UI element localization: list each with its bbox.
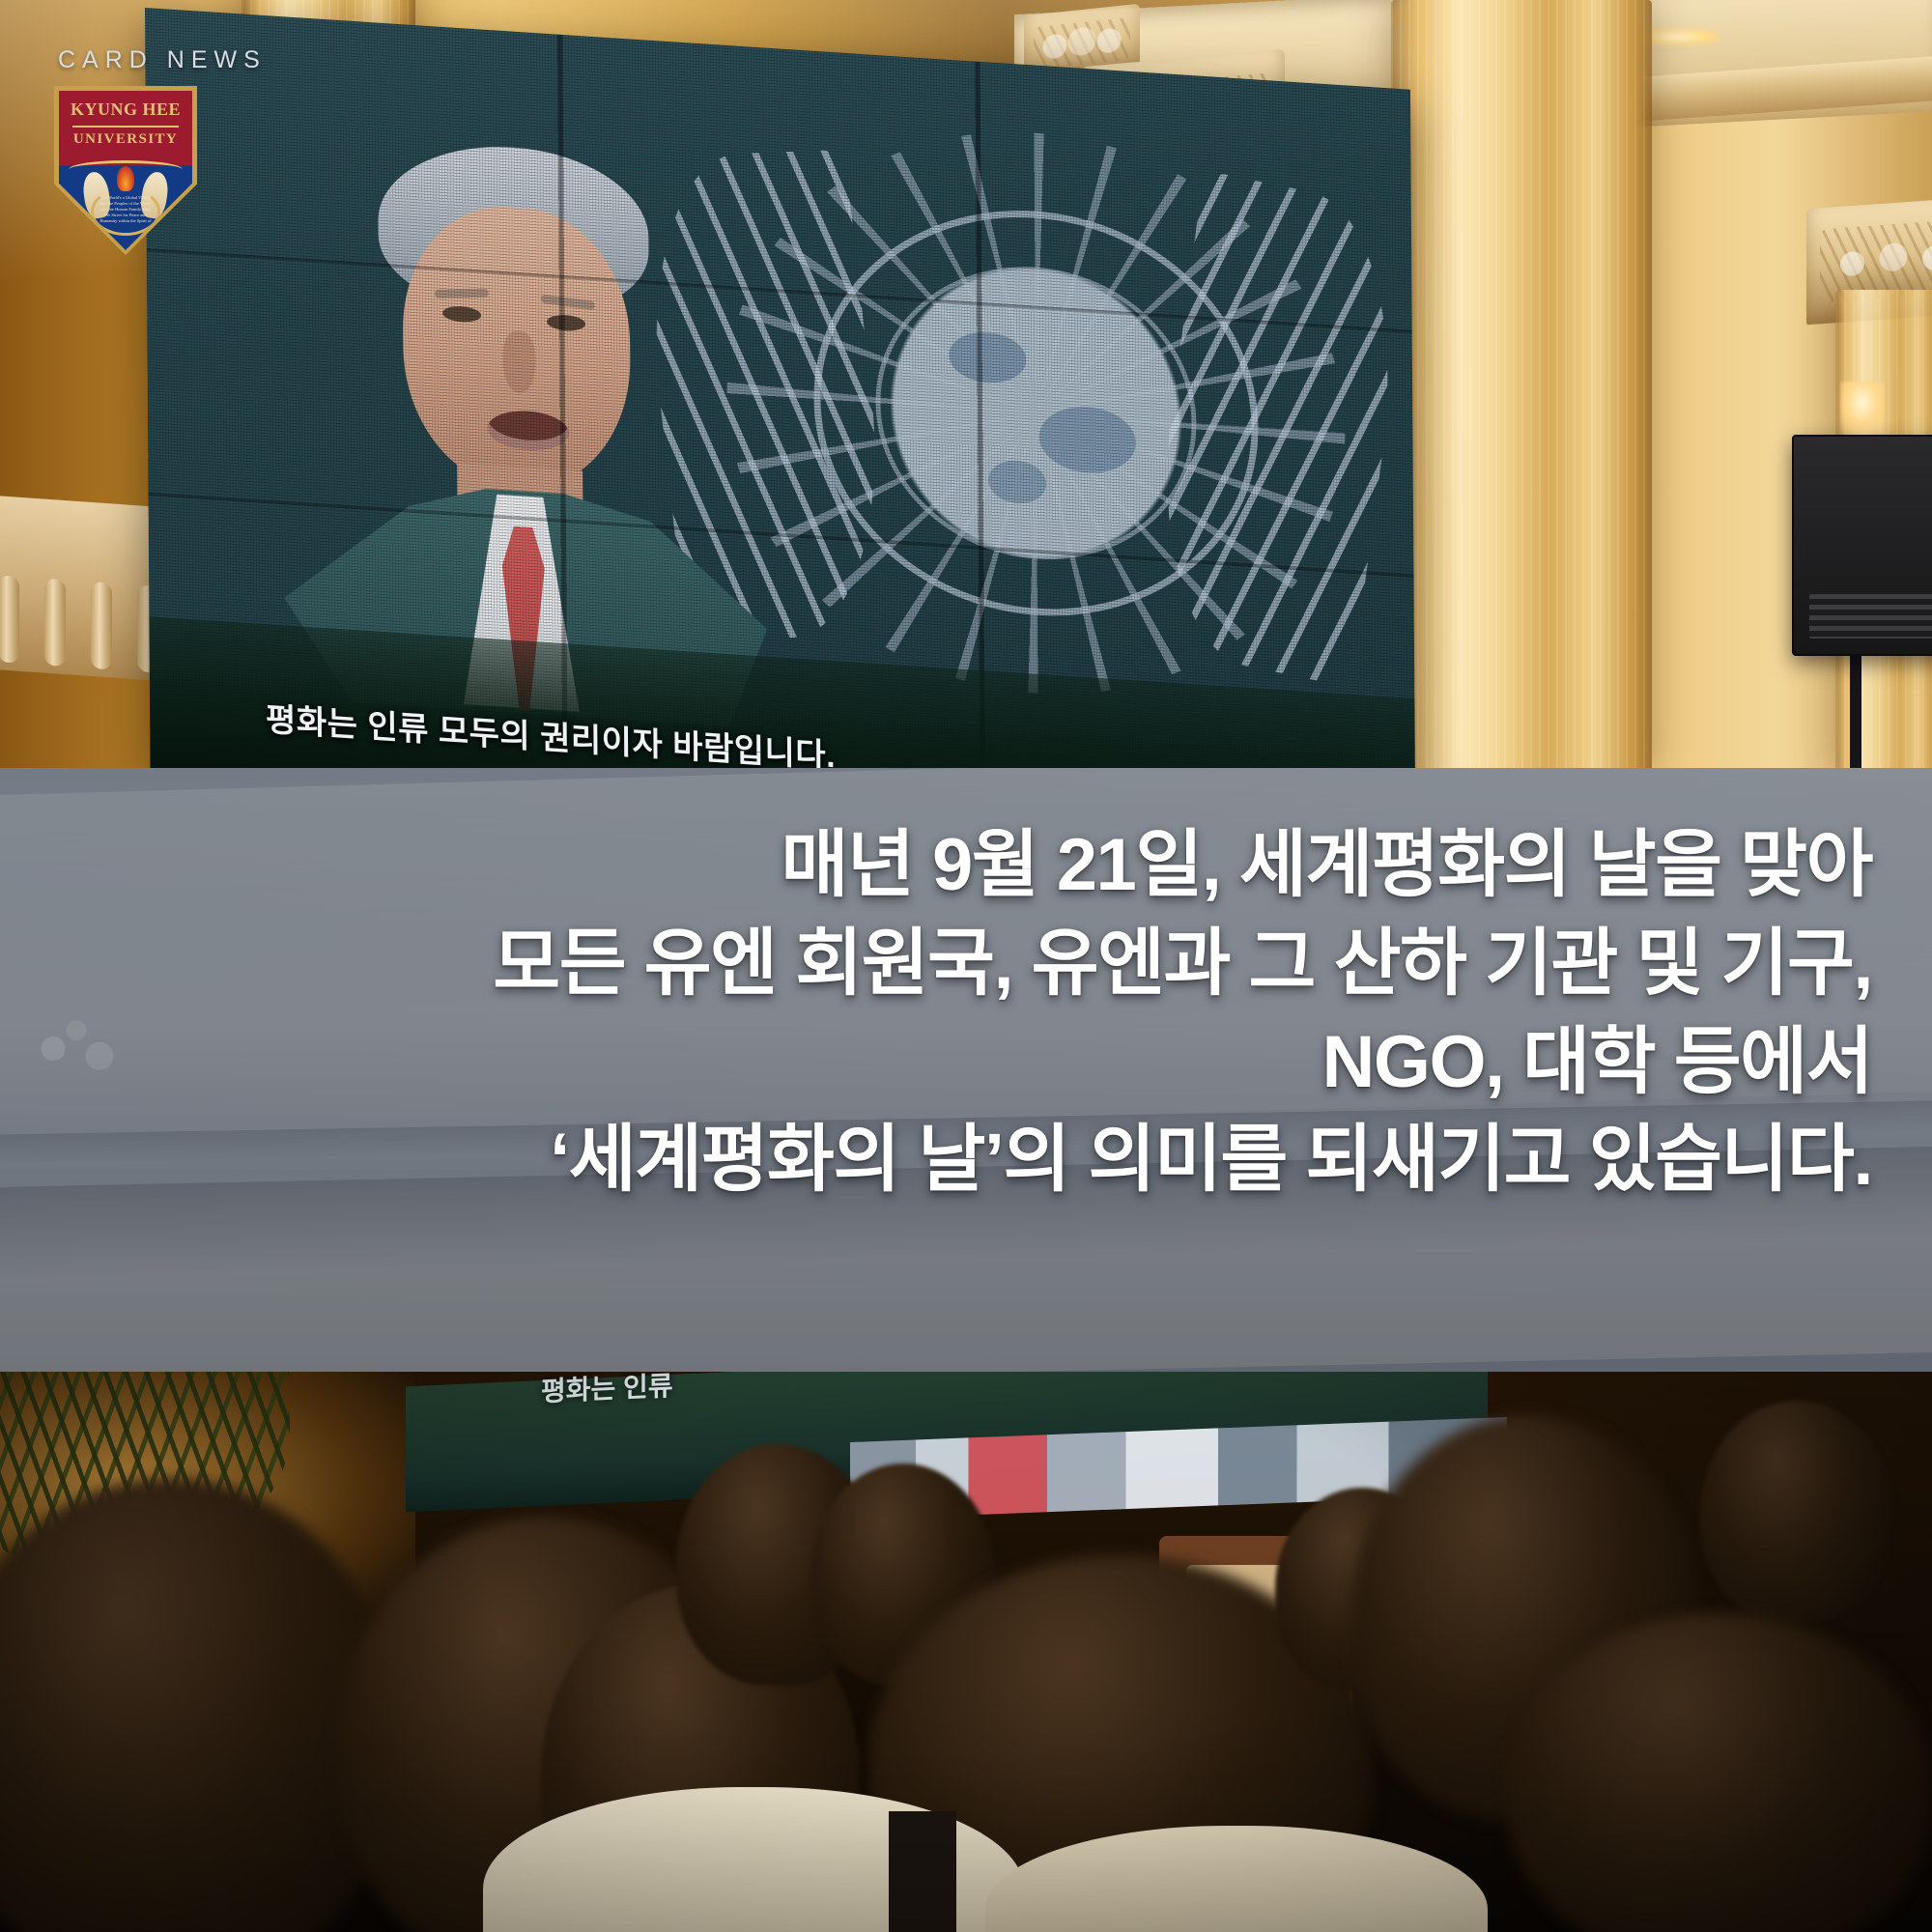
caption-line-2: 모든 유엔 회원국, 유엔과 그 산하 기관 및 기구,: [230, 915, 1872, 1013]
shield-motto-text: The World's a Global Village and the Peo…: [98, 195, 154, 224]
led-screen-surface: 평화는 인류 모두의 권리이자 바람입니다.: [145, 8, 1415, 773]
shield-university-name: KYUNG HEE: [59, 99, 192, 120]
kyung-hee-shield-logo: KYUNG HEE UNIVERSITY The World's a Globa…: [54, 86, 197, 255]
wall-sconce-icon: [1840, 382, 1885, 434]
speaker-grill: [1809, 594, 1932, 639]
shield-divider: [72, 126, 179, 128]
card-news-kicker: CARD NEWS: [58, 46, 296, 74]
baluster: [0, 575, 19, 664]
brand-block: CARD NEWS KYUNG HEE UNIVERSITY The World…: [54, 46, 296, 255]
caption-band: 매년 9월 21일, 세계평화의 날을 맞아 모든 유엔 회원국, 유엔과 그 …: [0, 768, 1932, 1372]
caption-text: 매년 9월 21일, 세계평화의 날을 맞아 모든 유엔 회원국, 유엔과 그 …: [230, 816, 1872, 1209]
shield-university-word: UNIVERSITY: [59, 131, 192, 148]
speaker-stand: [1850, 638, 1861, 773]
caption-line-4: ‘세계평화의 날’의 의미를 되새기고 있습니다.: [230, 1111, 1872, 1209]
caption-line-3: NGO, 대학 등에서: [230, 1013, 1872, 1112]
baluster: [44, 579, 66, 668]
caption-line-1: 매년 9월 21일, 세계평화의 날을 맞아: [230, 816, 1872, 915]
led-video-wall: 평화는 인류 모두의 권리이자 바람입니다.: [145, 8, 1415, 773]
pa-speaker: [1792, 435, 1932, 656]
bottom-photo: 평화는 인류: [0, 1372, 1932, 1932]
vignette: [0, 1372, 1932, 1932]
card-news-slide: 대학 대학: [0, 0, 1932, 1932]
marble-column-main: [1391, 0, 1652, 773]
baluster: [91, 582, 112, 670]
shield-inner: KYUNG HEE UNIVERSITY The World's a Globa…: [59, 91, 192, 250]
